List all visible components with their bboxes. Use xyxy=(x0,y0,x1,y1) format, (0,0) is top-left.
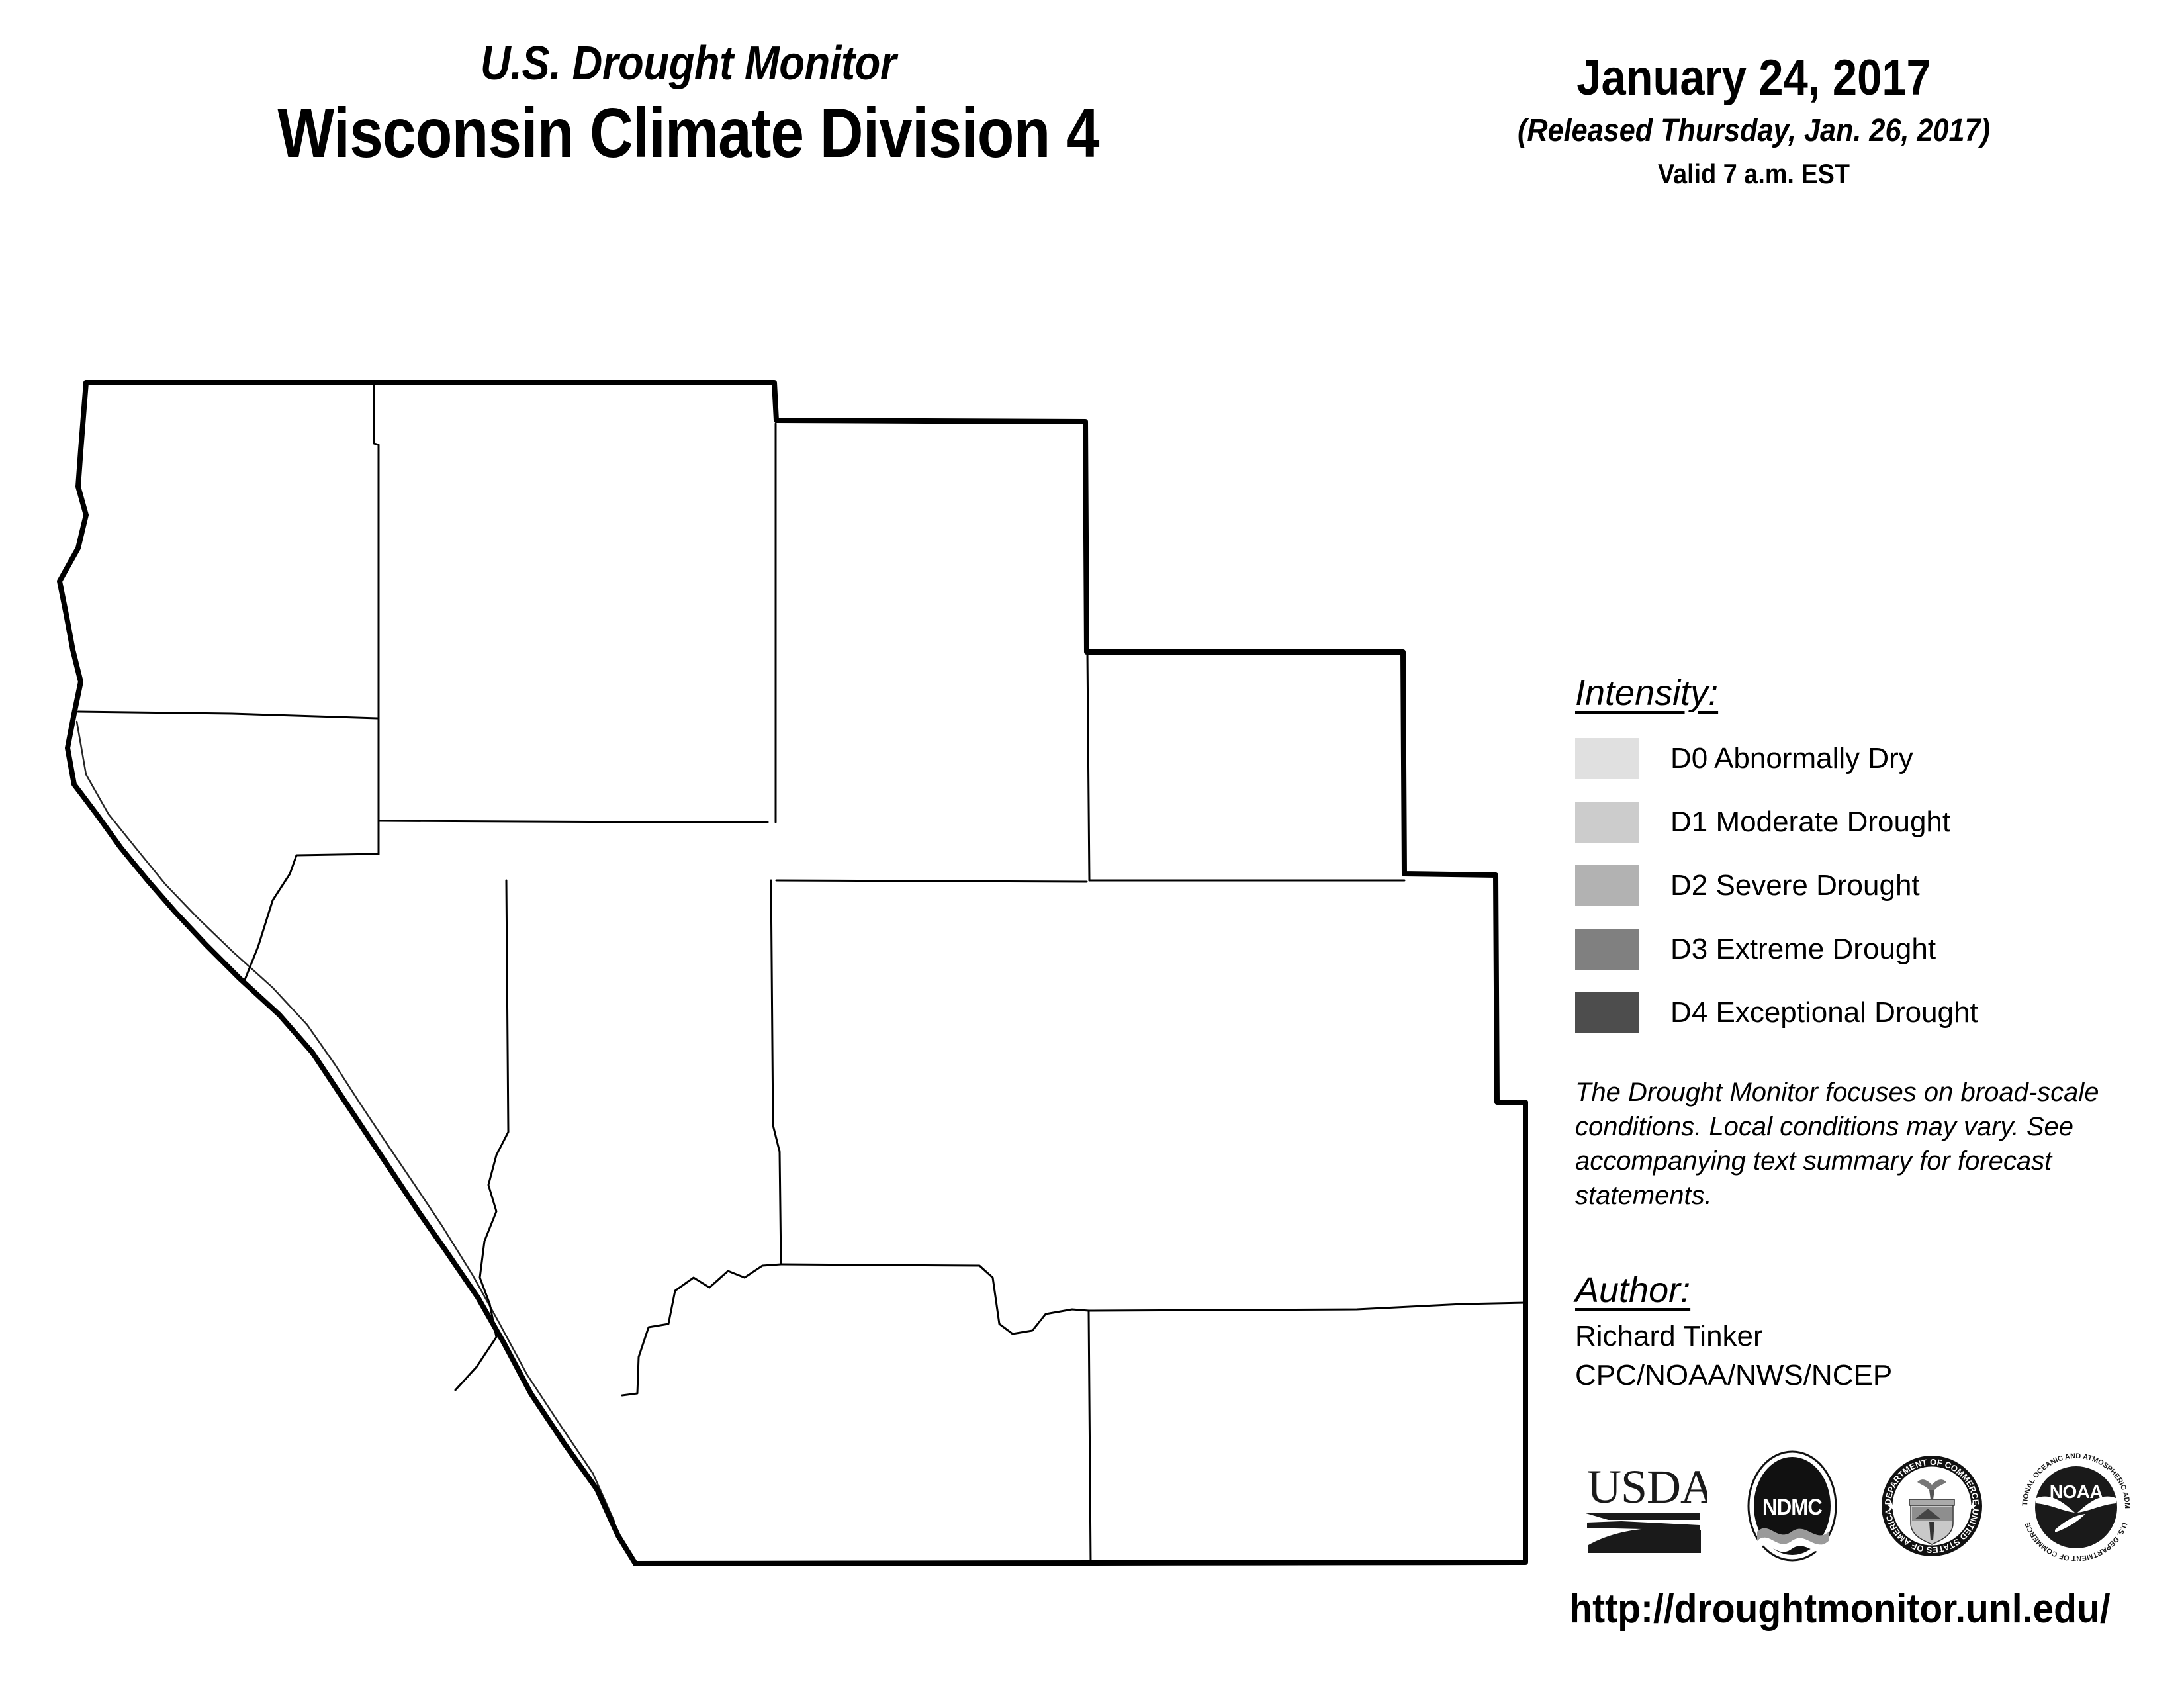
legend-panel: Intensity: D0 Abnormally Dry D1 Moderate… xyxy=(1575,675,2158,1394)
svg-text:NDMC: NDMC xyxy=(1762,1493,1822,1519)
legend-label-d2: D2 Severe Drought xyxy=(1670,871,1920,900)
commerce-seal: DEPARTMENT OF COMMERCE UNITED STATES OF … xyxy=(1878,1452,1987,1561)
logo-row: USDA NDMC DEPARTMENT OF COMMERCE UNITED … xyxy=(1582,1443,2131,1569)
legend-item-d4[interactable]: D4 Exceptional Drought xyxy=(1575,989,2158,1037)
legend-label-d1: D1 Moderate Drought xyxy=(1670,808,1950,837)
svg-text:USDA: USDA xyxy=(1587,1460,1707,1513)
legend-label-d0: D0 Abnormally Dry xyxy=(1670,744,1913,773)
legend-item-d2[interactable]: D2 Severe Drought xyxy=(1575,862,2158,910)
release-date: (Released Thursday, Jan. 26, 2017) xyxy=(1468,115,2040,147)
legend-label-d4: D4 Exceptional Drought xyxy=(1670,998,1978,1027)
map-svg[interactable] xyxy=(40,351,1535,1609)
legend-swatch-d4 xyxy=(1575,992,1639,1033)
title-block: U.S. Drought Monitor Wisconsin Climate D… xyxy=(0,40,1377,170)
svg-text:NOAA: NOAA xyxy=(2050,1481,2103,1502)
usda-logo: USDA xyxy=(1582,1456,1707,1556)
svg-text:★: ★ xyxy=(1887,1501,1896,1513)
division-fill xyxy=(60,383,1525,1564)
noaa-logo: NATIONAL OCEANIC AND ATMOSPHERIC ADMIN U… xyxy=(2022,1452,2131,1561)
page-title: Wisconsin Climate Division 4 xyxy=(97,97,1281,170)
legend-label-d3: D3 Extreme Drought xyxy=(1670,935,1936,964)
date-block: January 24, 2017 (Released Thursday, Jan… xyxy=(1436,53,2071,188)
legend-swatch-d0 xyxy=(1575,738,1639,779)
legend-item-d0[interactable]: D0 Abnormally Dry xyxy=(1575,735,2158,782)
legend-swatch-d3 xyxy=(1575,929,1639,970)
author-heading: Author: xyxy=(1575,1272,2158,1308)
disclaimer-text: The Drought Monitor focuses on broad-sca… xyxy=(1575,1075,2105,1213)
drought-monitor-url[interactable]: http://droughtmonitor.unl.edu/ xyxy=(1566,1589,2114,1630)
legend-swatch-d2 xyxy=(1575,865,1639,906)
dm-kicker: U.S. Drought Monitor xyxy=(83,40,1294,87)
valid-date: January 24, 2017 xyxy=(1475,53,2034,103)
legend-item-d1[interactable]: D1 Moderate Drought xyxy=(1575,798,2158,846)
legend-item-d3[interactable]: D3 Extreme Drought xyxy=(1575,925,2158,973)
valid-time: Valid 7 a.m. EST xyxy=(1468,160,2040,188)
svg-text:★: ★ xyxy=(1968,1501,1977,1513)
legend-swatch-d1 xyxy=(1575,802,1639,843)
drought-map[interactable] xyxy=(40,351,1535,1609)
county-line-chippewa-eauclaire xyxy=(776,880,1087,882)
county-line-stcroix-dunn xyxy=(296,854,379,855)
author-name: Richard Tinker xyxy=(1575,1317,2158,1355)
author-org: CPC/NOAA/NWS/NCEP xyxy=(1575,1356,2158,1394)
intensity-heading: Intensity: xyxy=(1575,675,2158,711)
ndmc-logo: NDMC xyxy=(1743,1448,1842,1564)
